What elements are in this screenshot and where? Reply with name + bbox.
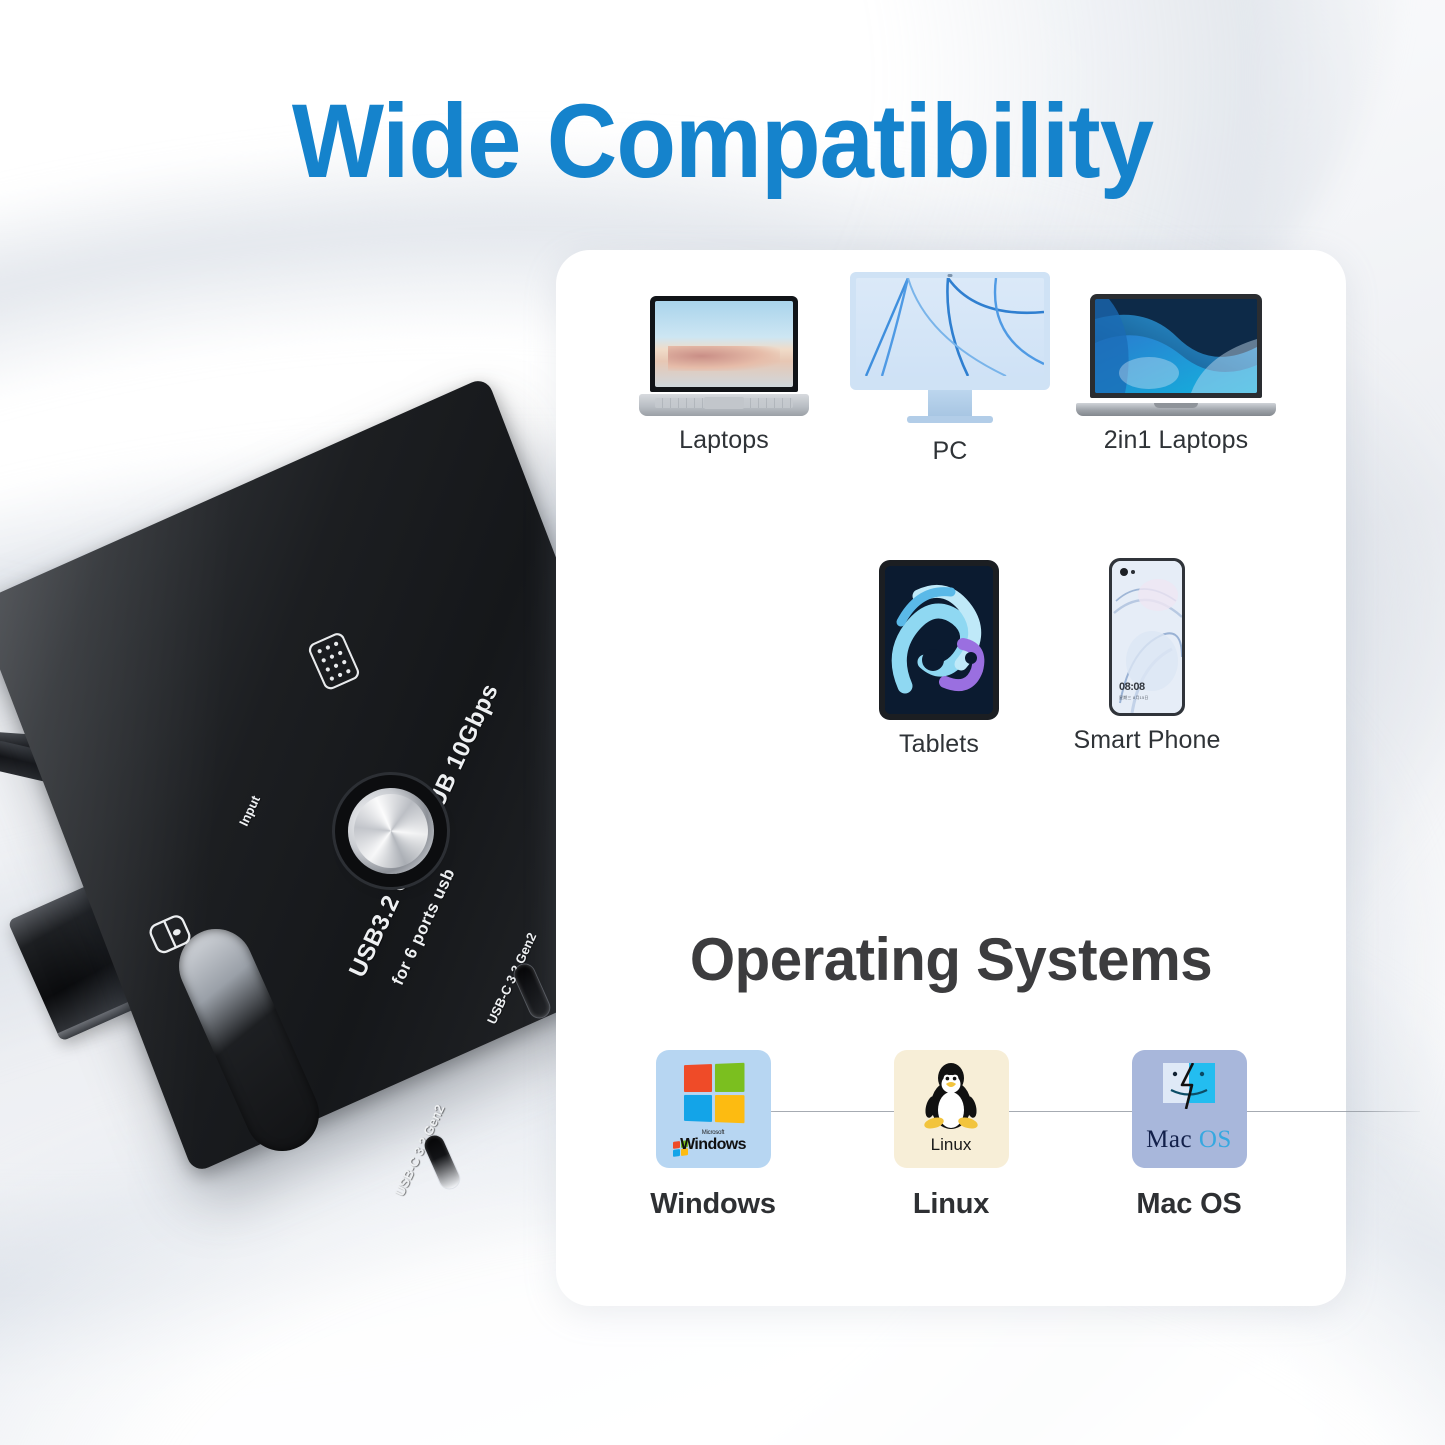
os-label: Linux bbox=[877, 1188, 1025, 1221]
page-title: Wide Compatibility bbox=[51, 82, 1395, 202]
linux-tile-text: Linux bbox=[894, 1135, 1009, 1155]
device-label: Tablets bbox=[844, 730, 1034, 759]
os-list: Microsoft Windows Windows bbox=[556, 1050, 1346, 1221]
smartphone-icon: 08:08 星期三 8月15日 bbox=[1109, 558, 1185, 716]
os-label: Mac OS bbox=[1115, 1188, 1263, 1221]
phone-clock-date: 星期三 8月15日 bbox=[1119, 695, 1149, 701]
device-label: 2in1 Laptops bbox=[1058, 426, 1294, 455]
laptop-surface-icon bbox=[639, 296, 809, 416]
os-item-windows: Microsoft Windows Windows bbox=[639, 1050, 787, 1221]
ipad-tablet-icon bbox=[879, 560, 999, 720]
os-item-linux: Linux Linux bbox=[877, 1050, 1025, 1221]
windows-tile-windows: Windows bbox=[680, 1136, 746, 1153]
device-label: Laptops bbox=[608, 426, 840, 455]
device-label: Smart Phone bbox=[1052, 726, 1242, 755]
mac-finder-face-icon: Mac OS bbox=[1132, 1050, 1247, 1168]
windows-logo-icon: Microsoft Windows bbox=[656, 1050, 771, 1168]
mac-tile-text-2: OS bbox=[1199, 1126, 1232, 1153]
device-pc: PC bbox=[834, 272, 1066, 466]
compatibility-card: Laptops PC bbox=[556, 250, 1346, 1306]
os-label: Windows bbox=[639, 1188, 787, 1221]
device-laptops: Laptops bbox=[608, 296, 840, 455]
device-smart-phone: 08:08 星期三 8月15日 Smart Phone bbox=[1052, 558, 1242, 755]
os-item-macos: Mac OS Mac OS bbox=[1115, 1050, 1263, 1221]
usb-c-port-4 bbox=[421, 1132, 462, 1191]
mac-tile-text-1: Mac bbox=[1146, 1126, 1199, 1153]
device-label: PC bbox=[834, 437, 1066, 466]
operating-systems-heading: Operating Systems bbox=[568, 925, 1334, 994]
imac-desktop-icon bbox=[850, 272, 1050, 427]
phone-clock-time: 08:08 bbox=[1119, 681, 1145, 693]
macbook-air-icon bbox=[1076, 294, 1276, 416]
device-2in1-laptops: 2in1 Laptops bbox=[1058, 294, 1294, 455]
linux-tux-penguin-icon: Linux bbox=[894, 1050, 1009, 1168]
device-tablets: Tablets bbox=[844, 560, 1034, 759]
